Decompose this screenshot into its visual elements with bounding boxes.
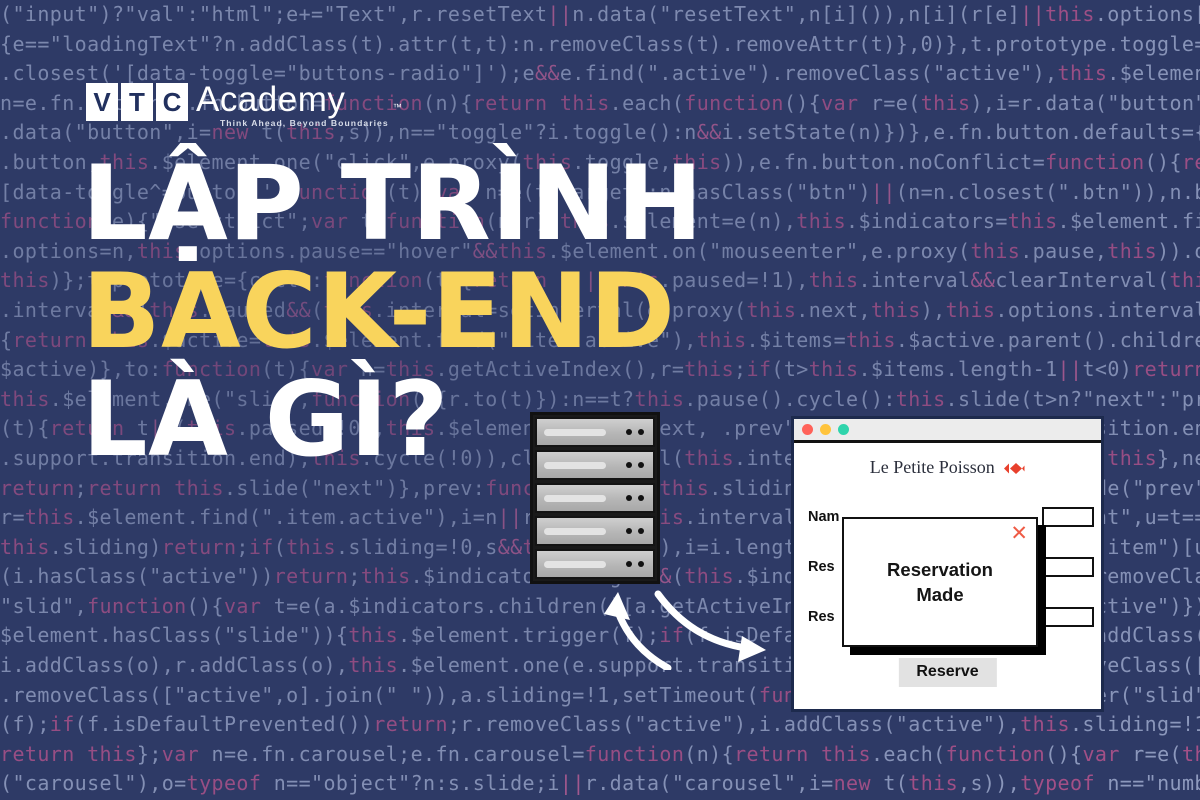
server-unit <box>535 450 655 480</box>
server-led-dot <box>638 528 644 534</box>
server-status-bar <box>544 429 606 436</box>
server-led-dot <box>626 462 632 468</box>
server-led-dots <box>626 495 644 501</box>
infographic-canvas: ("input")?"val":"html";e+="Text",r.reset… <box>0 0 1200 800</box>
browser-page-body: Le Petite Poisson Nam Res Res Rese <box>794 443 1101 709</box>
logo-wordmark: Academy <box>196 83 389 117</box>
headline-line-1: LẬP TRÌNH <box>82 150 704 258</box>
logo-wordmark-group: Academy ™ Think Ahead, Beyond Boundaries <box>196 83 389 128</box>
headline-line-2: BACK-END <box>82 258 704 366</box>
browser-titlebar <box>794 419 1101 443</box>
server-led-dots <box>626 462 644 468</box>
logo-letter-v: V <box>86 83 118 121</box>
fish-icon <box>1003 462 1025 475</box>
reserve-button[interactable]: Reserve <box>898 658 996 687</box>
server-led-dots <box>626 561 644 567</box>
logo-letter-t: T <box>121 83 153 121</box>
server-unit <box>535 549 655 579</box>
minimize-dot[interactable] <box>820 424 831 435</box>
logo-letter-boxes: V T C <box>86 83 188 121</box>
form-label: Nam <box>808 509 839 525</box>
server-led-dot <box>638 561 644 567</box>
modal-message-line-2: Made <box>844 582 1036 607</box>
server-unit <box>535 483 655 513</box>
server-led-dot <box>638 462 644 468</box>
arrow-curved-right-shaft <box>658 594 746 648</box>
server-led-dot <box>626 495 632 501</box>
logo-letter-c: C <box>156 83 188 121</box>
form-label: Res <box>808 609 835 625</box>
server-led-dots <box>626 429 644 435</box>
modal-message-line-1: Reservation <box>844 557 1036 582</box>
server-unit <box>535 417 655 447</box>
arrow-curved-up-left-shaft <box>618 612 668 668</box>
server-led-dot <box>626 429 632 435</box>
trademark-symbol: ™ <box>393 102 402 112</box>
server-status-bar <box>544 462 606 469</box>
server-rack-icon <box>530 412 660 584</box>
reservation-date-input[interactable] <box>1042 557 1094 577</box>
arrow-curved-right-head <box>738 636 766 662</box>
site-title-group: Le Petite Poisson <box>794 443 1101 478</box>
server-status-bar <box>544 495 606 502</box>
server-led-dots <box>626 528 644 534</box>
server-unit <box>535 516 655 546</box>
server-led-dot <box>638 429 644 435</box>
arrow-curved-up-left-head <box>604 592 630 620</box>
name-input[interactable] <box>1042 507 1094 527</box>
close-icon[interactable]: ✕ <box>1010 523 1028 544</box>
modal-message: Reservation Made <box>844 519 1036 607</box>
logo-tagline: Think Ahead, Beyond Boundaries <box>220 118 389 128</box>
server-led-dot <box>626 561 632 567</box>
close-dot[interactable] <box>802 424 813 435</box>
site-title-text: Le Petite Poisson <box>870 457 995 477</box>
form-label: Res <box>808 559 835 575</box>
server-led-dot <box>626 528 632 534</box>
vtc-academy-logo[interactable]: V T C Academy ™ Think Ahead, Beyond Boun… <box>86 83 389 128</box>
server-status-bar <box>544 528 606 535</box>
server-led-dot <box>638 495 644 501</box>
reservation-time-input[interactable] <box>1042 607 1094 627</box>
maximize-dot[interactable] <box>838 424 849 435</box>
browser-window-mockup: Le Petite Poisson Nam Res Res Rese <box>791 416 1104 712</box>
reservation-confirmation-modal: ✕ Reservation Made <box>842 517 1038 647</box>
server-status-bar <box>544 561 606 568</box>
request-response-arrows <box>596 580 786 670</box>
